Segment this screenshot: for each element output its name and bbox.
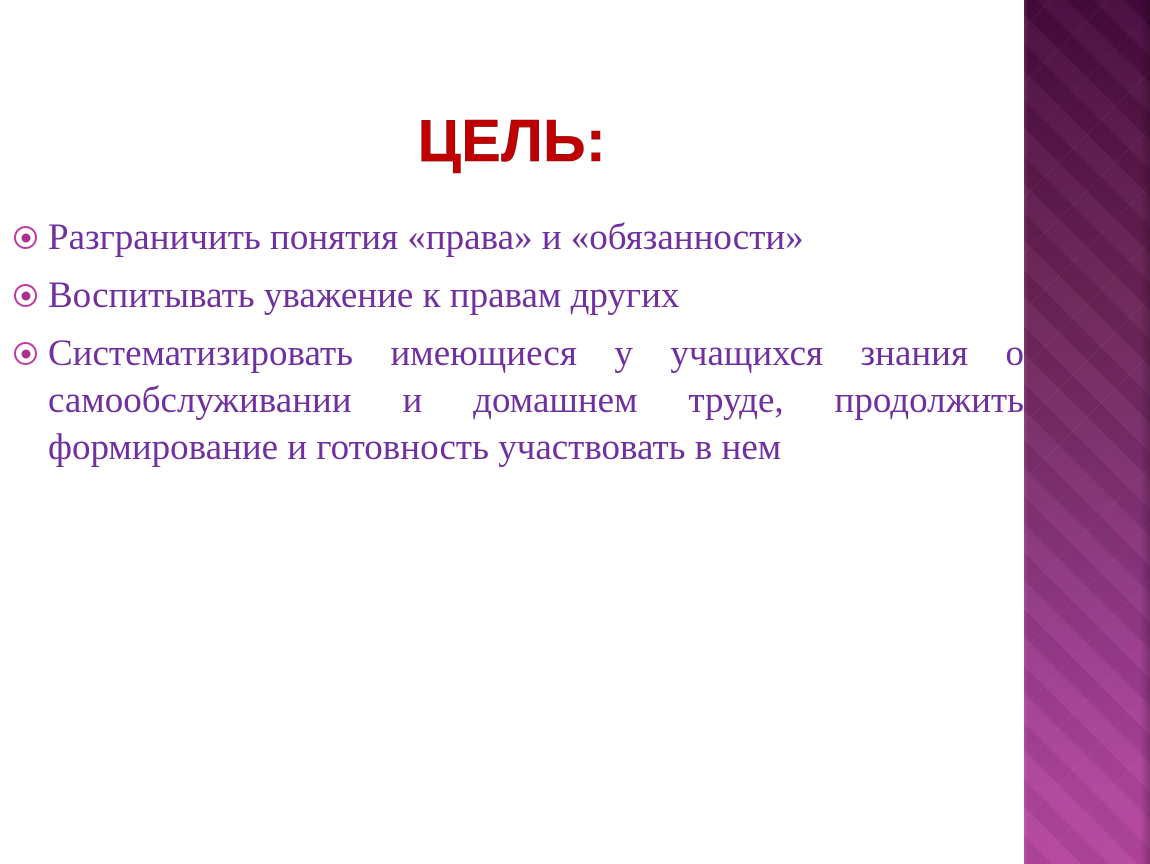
list-item-text: Систематизировать имеющиеся у учащихся з…	[48, 330, 1024, 471]
list-item-text: Воспитывать уважение к правам других	[48, 272, 1024, 319]
list-item: Систематизировать имеющиеся у учащихся з…	[0, 330, 1024, 471]
circled-dot-bullet-icon	[14, 226, 37, 249]
right-decorative-band	[1024, 0, 1150, 864]
bullet-list: Разграничить понятия «права» и «обязанно…	[0, 214, 1024, 482]
circled-dot-bullet-icon	[14, 284, 37, 307]
band-left-highlight	[1024, 0, 1028, 864]
slide-title: ЦЕЛЬ:	[0, 108, 1024, 174]
list-item-text: Разграничить понятия «права» и «обязанно…	[48, 214, 1024, 261]
list-item: Разграничить понятия «права» и «обязанно…	[0, 214, 1024, 261]
band-right-shadow	[1140, 0, 1150, 864]
circled-dot-bullet-icon	[14, 342, 37, 365]
slide-canvas: ЦЕЛЬ: Разграничить понятия «права» и «об…	[0, 0, 1150, 864]
diamond-pattern-overlay	[1024, 0, 1150, 864]
list-item: Воспитывать уважение к правам других	[0, 272, 1024, 319]
